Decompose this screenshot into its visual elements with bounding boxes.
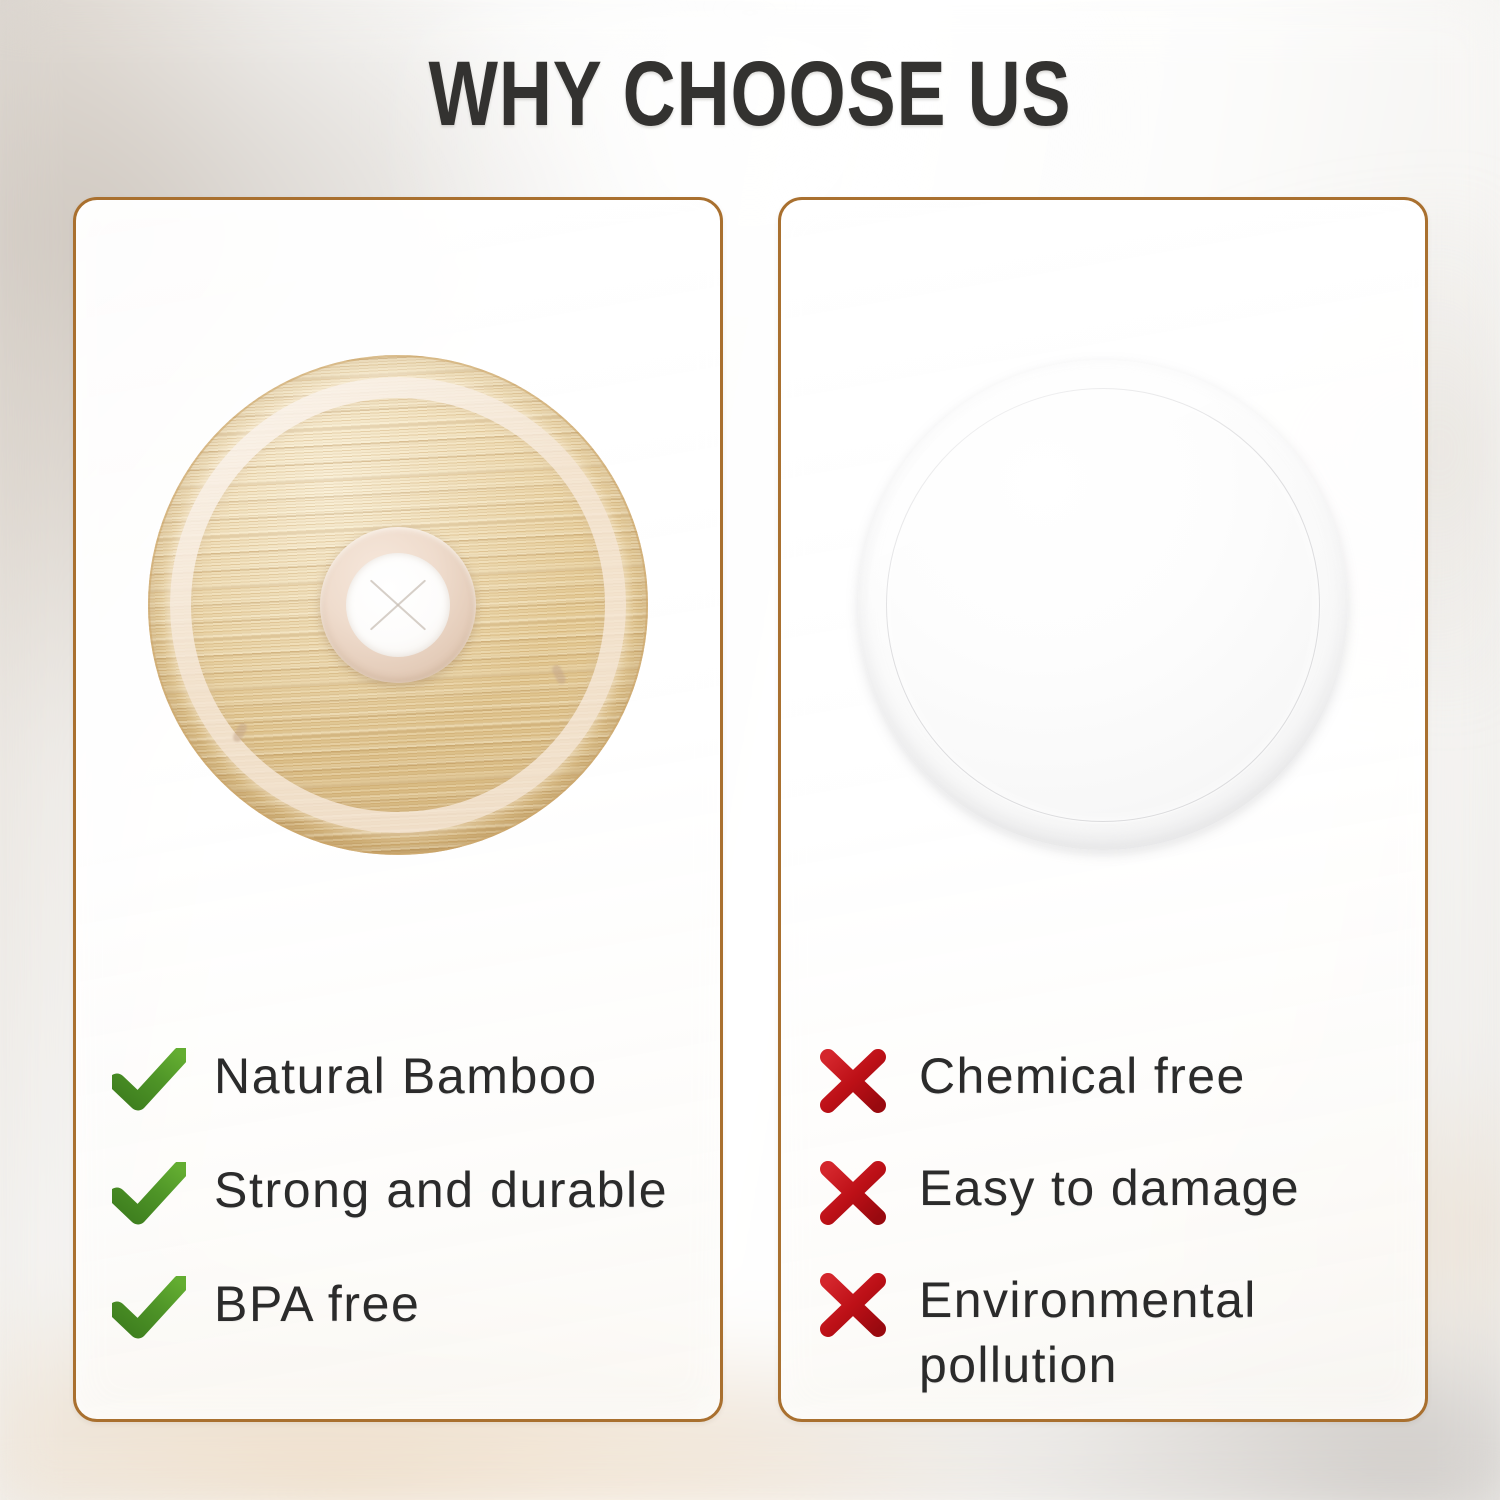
product-image-white-lid: [781, 200, 1425, 1010]
page-title: WHY CHOOSE US: [150, 48, 1350, 140]
list-item-label: Natural Bamboo: [214, 1044, 598, 1109]
gasket-notch-right: [551, 664, 568, 686]
center-hole-collar: [320, 527, 476, 683]
list-item-label: Strong and durable: [214, 1158, 668, 1223]
product-image-bamboo-lid: [76, 200, 720, 1010]
white-lid-graphic: [858, 360, 1348, 850]
list-item-label: Easy to damage: [919, 1156, 1300, 1221]
list-item: Chemical free: [817, 1044, 1385, 1114]
straw-plug: [346, 553, 450, 657]
list-item: Natural Bamboo: [112, 1044, 680, 1114]
bamboo-lid-graphic: [148, 355, 648, 855]
panel-theirs: Chemical free: [778, 197, 1428, 1422]
feature-list-theirs: Chemical free: [781, 1020, 1425, 1419]
cross-icon: [817, 1272, 891, 1338]
check-icon: [112, 1162, 186, 1228]
gasket-notch-left: [231, 722, 248, 744]
feature-list-ours: Natural Bamboo: [76, 1020, 720, 1419]
check-icon: [112, 1048, 186, 1114]
list-item-label: Chemical free: [919, 1044, 1246, 1109]
cross-icon: [817, 1160, 891, 1226]
list-item-label: BPA free: [214, 1272, 420, 1337]
white-inner-groove: [886, 388, 1320, 822]
cross-icon: [817, 1048, 891, 1114]
list-item-label: Environmental pollution: [919, 1268, 1385, 1398]
list-item: Strong and durable: [112, 1158, 680, 1228]
panel-ours: Natural Bamboo: [73, 197, 723, 1422]
comparison-panels: Natural Bamboo: [73, 197, 1428, 1422]
list-item: Environmental pollution: [817, 1268, 1385, 1398]
check-icon: [112, 1276, 186, 1342]
list-item: BPA free: [112, 1272, 680, 1342]
infographic-canvas: WHY CHOOSE US: [0, 0, 1500, 1500]
list-item: Easy to damage: [817, 1156, 1385, 1226]
